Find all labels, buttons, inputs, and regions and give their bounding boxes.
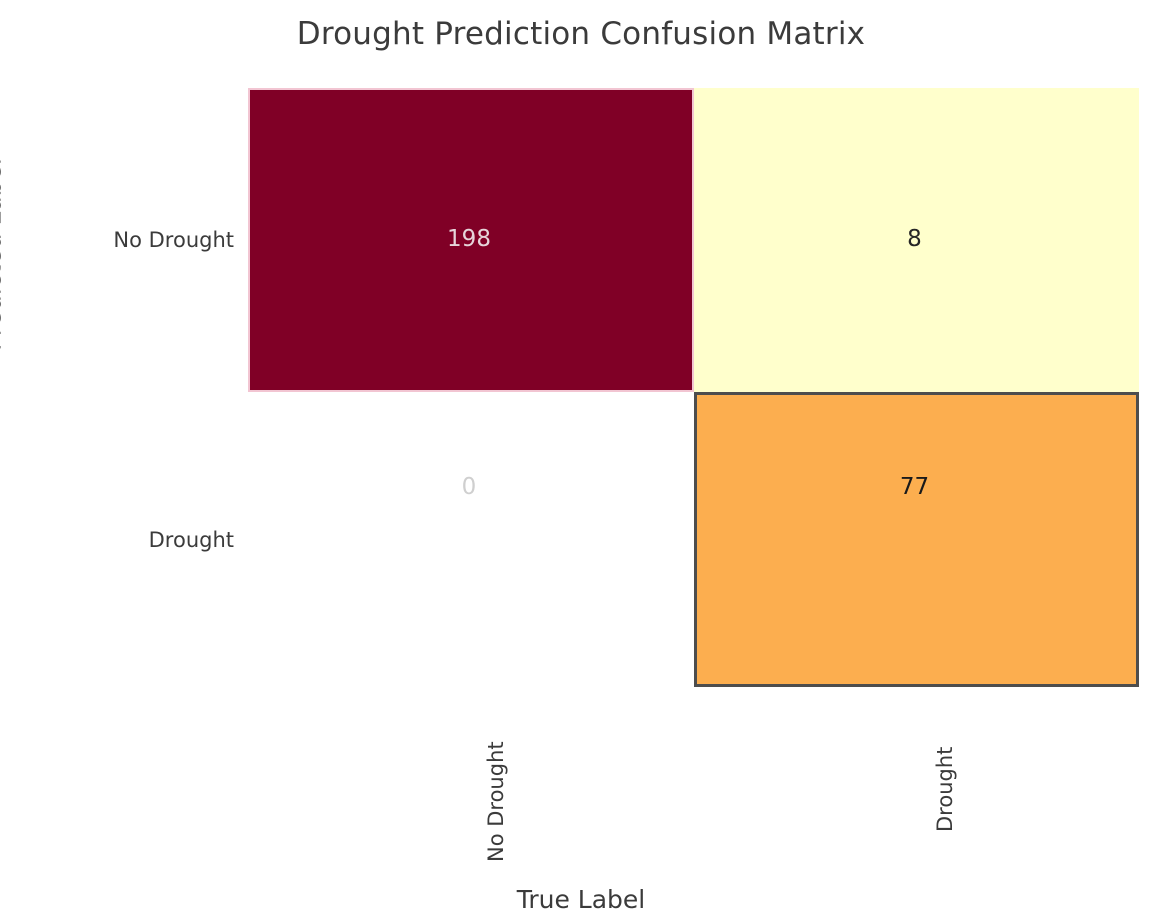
heatmap-plot-area: 198 8 0 77 — [248, 88, 1139, 687]
confusion-matrix-figure: Drought Prediction Confusion Matrix Pred… — [0, 0, 1162, 922]
x-tick-label-no-drought: No Drought — [484, 741, 508, 862]
cell-value: 8 — [907, 228, 922, 251]
cell-value: 198 — [447, 228, 491, 251]
y-tick-label-drought: Drought — [149, 528, 234, 552]
x-axis-label: True Label — [0, 885, 1162, 914]
x-tick-label-drought: Drought — [933, 747, 957, 832]
y-tick-label-no-drought: No Drought — [113, 228, 234, 252]
cell-value: 0 — [462, 476, 477, 499]
heatmap-cell-true-drought-pred-no-drought[interactable]: 8 — [694, 88, 1139, 392]
chart-title: Drought Prediction Confusion Matrix — [0, 16, 1162, 52]
heatmap-cell-true-no-drought-pred-drought[interactable]: 0 — [248, 392, 694, 687]
y-axis-label: Predicted Label — [0, 85, 7, 425]
heatmap-cell-true-drought-pred-drought[interactable]: 77 — [694, 392, 1139, 687]
cell-value: 77 — [900, 476, 929, 499]
heatmap-cell-true-no-drought-pred-no-drought[interactable]: 198 — [248, 88, 694, 392]
